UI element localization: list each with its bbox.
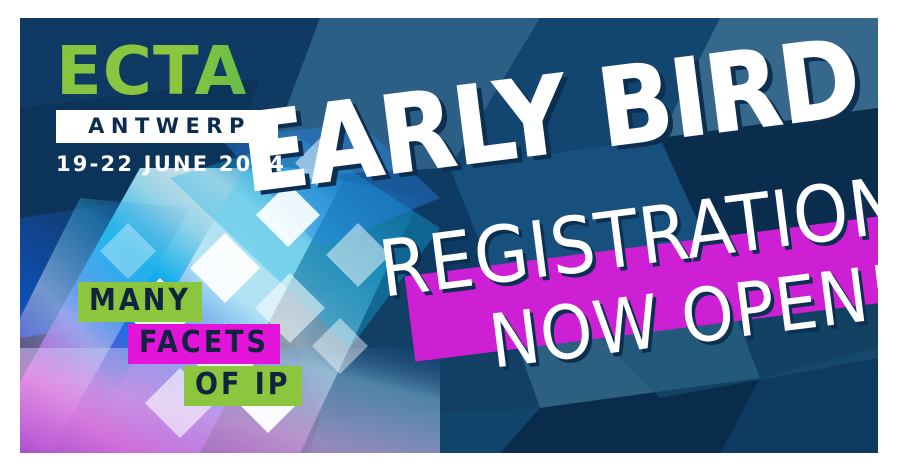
antwerp-label: ANTWERP — [67, 114, 272, 138]
ecta-wordmark: ECTA — [56, 40, 278, 104]
event-dates: 19-22 JUNE 2024 — [56, 152, 278, 176]
tagline-line-many: MANY — [78, 282, 202, 322]
tagline-line-facets: FACETS — [128, 324, 280, 364]
tagline-block: MANY FACETS OF IP — [54, 282, 302, 406]
early-bird-registration-banner: EARLY BIRD REGISTRATION NOW OPEN! ECTA A… — [20, 18, 878, 453]
ecta-logo-lockup: ECTA ANTWERP 19-22 JUNE 2024 — [56, 40, 278, 176]
tagline-line-of-ip: OF IP — [184, 366, 302, 406]
antwerp-bar: ANTWERP — [56, 110, 278, 143]
